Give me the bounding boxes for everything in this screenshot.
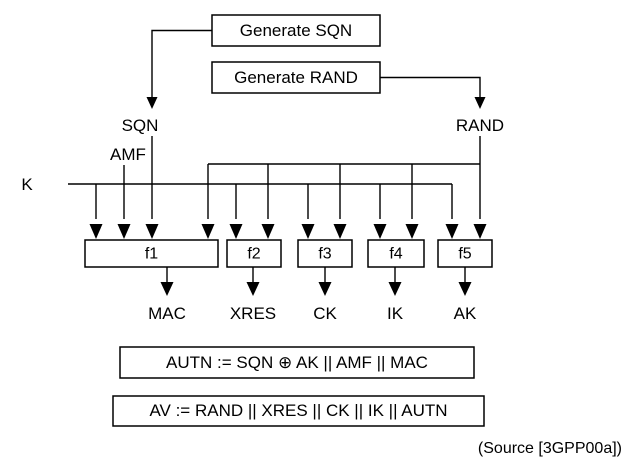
- av-formula-box[interactable]: AV := RAND || XRES || CK || IK || AUTN: [113, 396, 484, 426]
- function-block-f2[interactable]: f2: [227, 240, 281, 267]
- diagram-canvas: Generate SQN Generate RAND SQN AMF RAND …: [0, 0, 634, 465]
- sqn-arrowhead: [147, 97, 158, 109]
- f5-label: f5: [458, 246, 471, 263]
- authentication-vector-diagram: Generate SQN Generate RAND SQN AMF RAND …: [0, 0, 634, 465]
- f1-input-k-arrowhead: [90, 224, 103, 239]
- output-label-ik: IK: [387, 304, 404, 323]
- function-input-arrowheads: [90, 224, 487, 239]
- source-citation: (Source [3GPP00a]): [478, 440, 622, 457]
- function-block-f1[interactable]: f1: [85, 240, 218, 267]
- generate-rand-box[interactable]: Generate RAND: [212, 62, 380, 93]
- autn-formula-box[interactable]: AUTN := SQN ⊕ AK || AMF || MAC: [120, 347, 474, 378]
- ik-arrowhead: [389, 282, 402, 296]
- rand-arrowhead: [475, 97, 486, 109]
- f4-input-rand-arrowhead: [406, 224, 419, 239]
- mac-arrowhead: [161, 282, 174, 296]
- f1-input-sqn-arrowhead: [146, 224, 159, 239]
- output-label-ak: AK: [454, 304, 477, 323]
- generate-sqn-label: Generate SQN: [240, 21, 352, 40]
- k-bus: [68, 184, 452, 219]
- f3-input-rand-arrowhead: [334, 224, 347, 239]
- ak-arrowhead: [459, 282, 472, 296]
- f5-input-k-arrowhead: [446, 224, 459, 239]
- ck-arrowhead: [319, 282, 332, 296]
- sqn-label: SQN: [122, 116, 159, 135]
- autn-formula-label: AUTN := SQN ⊕ AK || AMF || MAC: [166, 353, 428, 372]
- function-block-f4[interactable]: f4: [368, 240, 424, 267]
- f2-input-rand-arrowhead: [262, 224, 275, 239]
- output-label-xres: XRES: [230, 304, 276, 323]
- rand-label: RAND: [456, 116, 504, 135]
- xres-arrowhead: [247, 282, 260, 296]
- av-formula-label: AV := RAND || XRES || CK || IK || AUTN: [149, 401, 447, 420]
- function-block-f3[interactable]: f3: [298, 240, 352, 267]
- rand-bus: [208, 136, 480, 219]
- sqn-wire: [147, 31, 213, 110]
- rand-wire: [380, 78, 486, 110]
- f5-input-rand-arrowhead: [474, 224, 487, 239]
- function-block-f5[interactable]: f5: [438, 240, 492, 267]
- f2-label: f2: [247, 246, 260, 263]
- output-label-ck: CK: [313, 304, 337, 323]
- output-label-mac: MAC: [148, 304, 186, 323]
- function-output-wires: [161, 267, 472, 296]
- f1-input-amf-arrowhead: [118, 224, 131, 239]
- f1-input-rand-arrowhead: [202, 224, 215, 239]
- amf-label: AMF: [110, 145, 146, 164]
- generate-rand-label: Generate RAND: [234, 68, 358, 87]
- generate-sqn-box[interactable]: Generate SQN: [212, 15, 380, 46]
- f4-input-k-arrowhead: [374, 224, 387, 239]
- f2-input-k-arrowhead: [230, 224, 243, 239]
- f3-label: f3: [318, 246, 331, 263]
- f1-label: f1: [145, 246, 158, 263]
- f3-input-k-arrowhead: [302, 224, 315, 239]
- k-label: K: [21, 175, 33, 194]
- f4-label: f4: [389, 246, 402, 263]
